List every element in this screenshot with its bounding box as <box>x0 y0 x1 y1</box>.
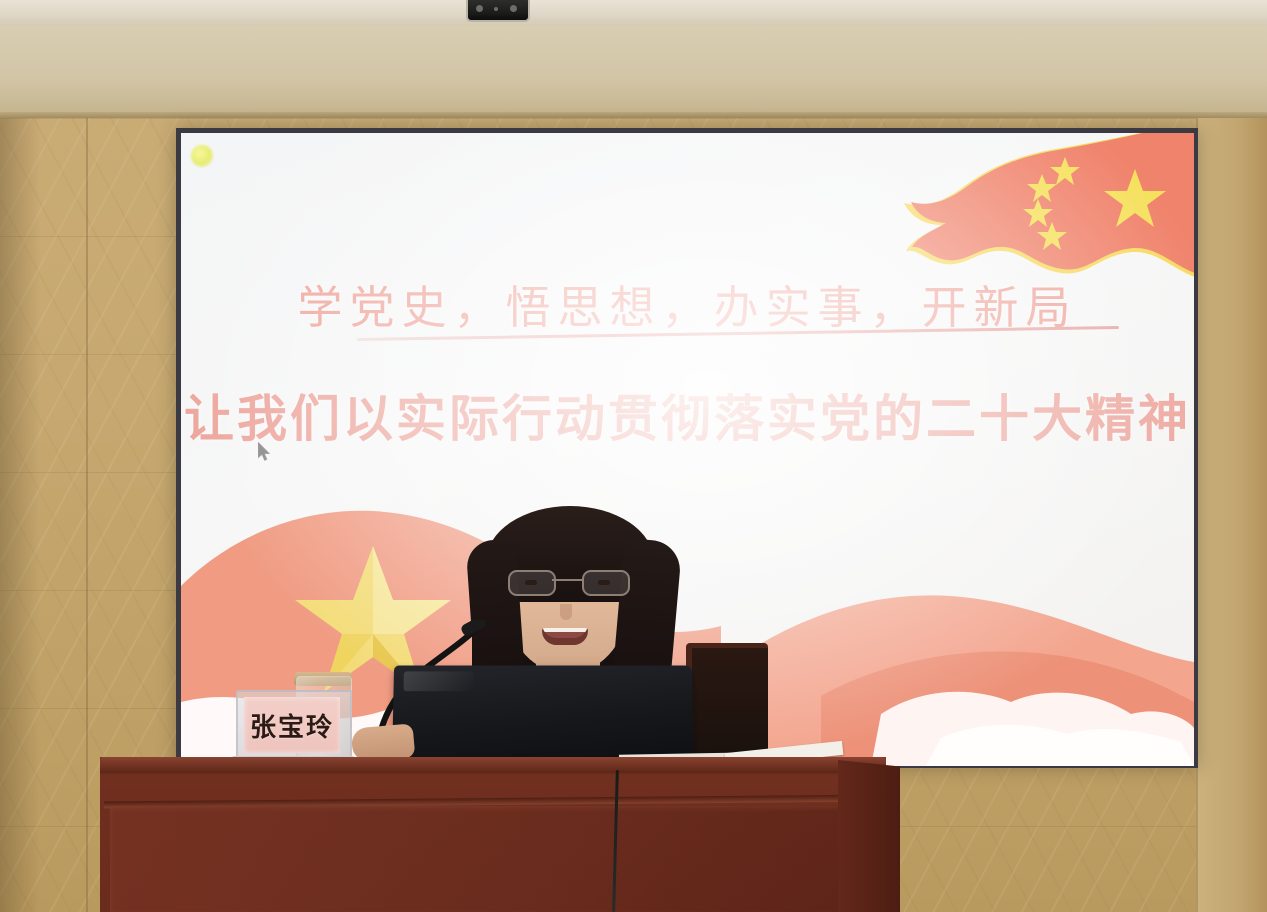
screen-highlight-dot <box>191 145 213 167</box>
nameplate: 张宝玲 <box>244 697 340 753</box>
podium-front-panel <box>110 806 878 912</box>
nose <box>560 604 572 620</box>
wall-shadow-left <box>0 118 40 912</box>
podium-top-surface <box>100 757 886 773</box>
ceiling-camera <box>466 0 530 22</box>
ceiling-soffit <box>0 26 1267 122</box>
wall-seam <box>86 118 88 912</box>
glasses-icon <box>506 570 628 592</box>
laptop-screen-glare <box>404 671 474 691</box>
nameplate-text: 张宝玲 <box>250 707 334 744</box>
podium-side-panel <box>838 760 900 912</box>
mouse-cursor[interactable] <box>258 442 272 462</box>
slide-subtitle: 让我们以实际行动贯彻落实党的二十大精神 <box>181 379 1194 451</box>
wall-right-panel <box>1196 118 1267 912</box>
mouth-smiling <box>542 628 588 645</box>
presentation-photo: 学党史，悟思想，办实事，开新局 让我们以实际行动贯彻落实党的二十大精神 <box>0 0 1267 912</box>
